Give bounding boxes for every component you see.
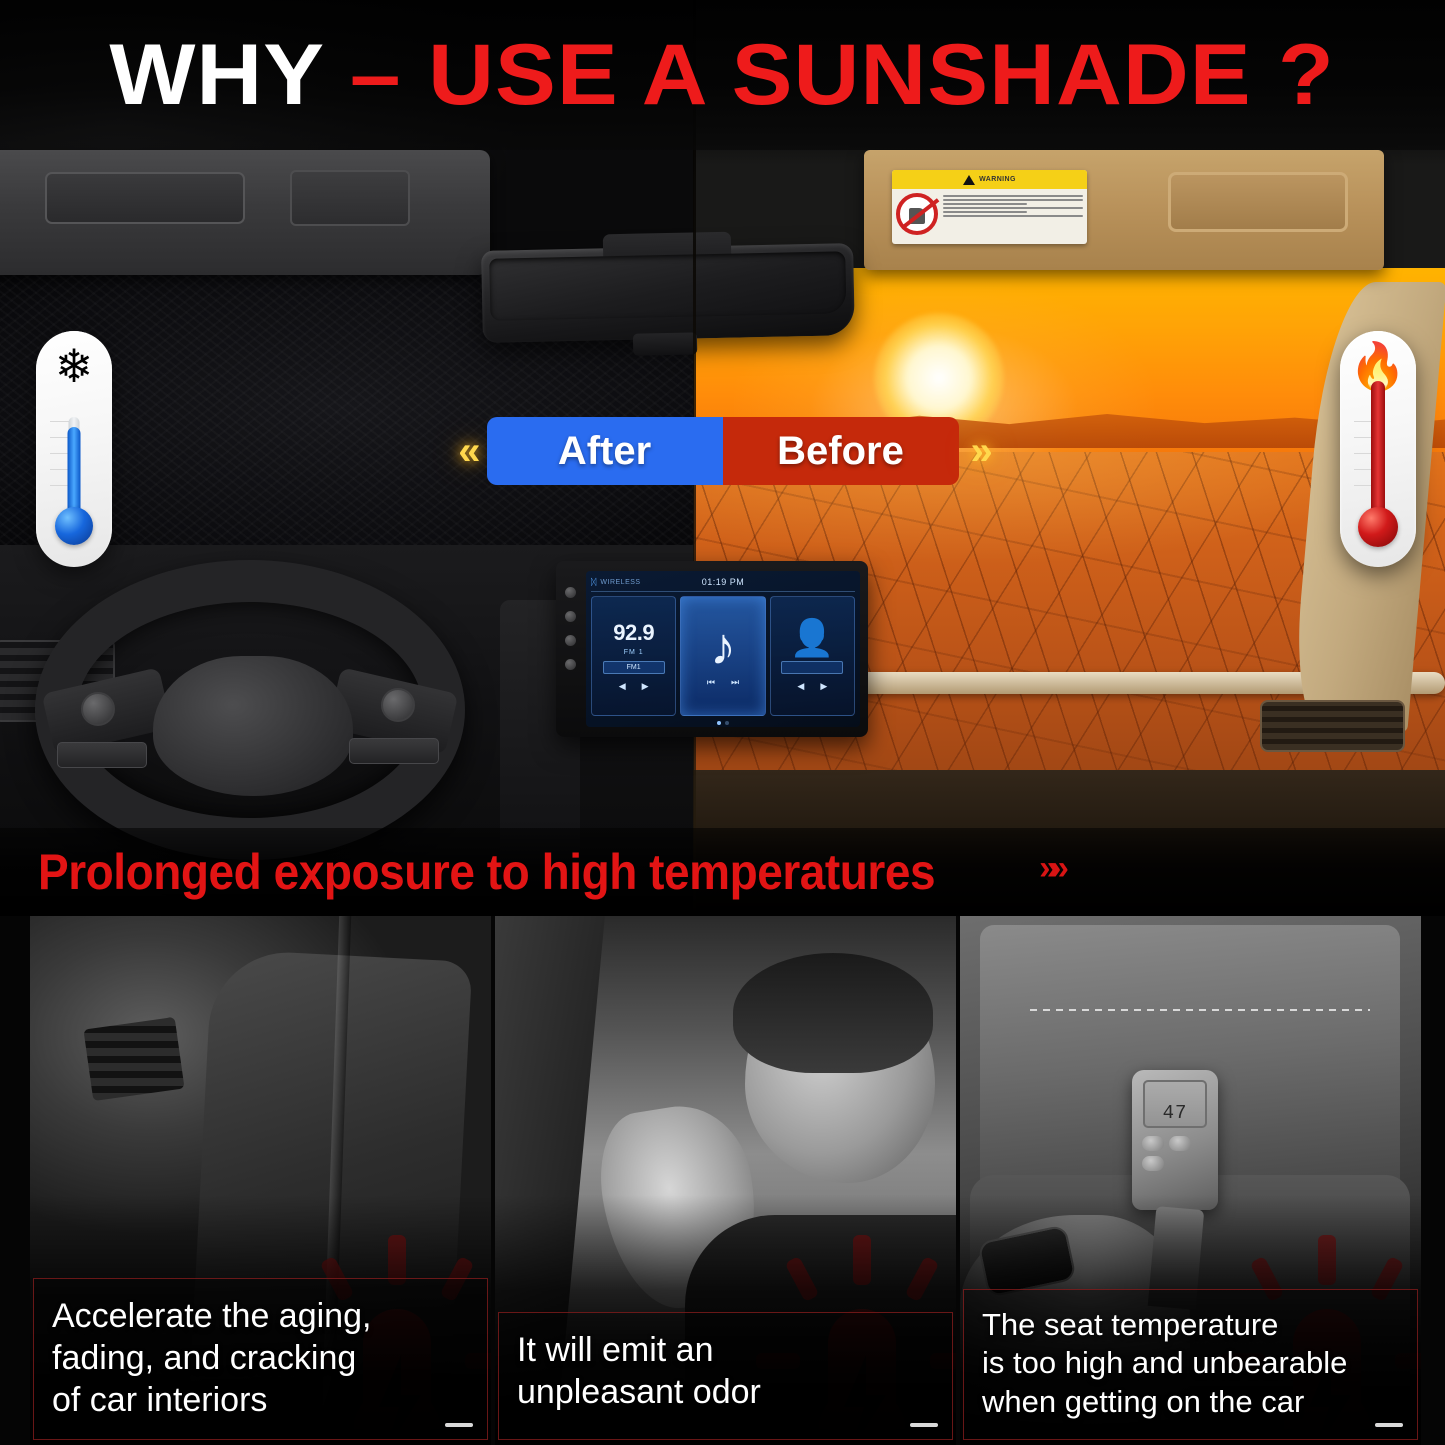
mid-headline-band: Prolonged exposure to high temperatures …	[0, 828, 1445, 916]
caption-line: is too high and unbearable	[982, 1344, 1403, 1382]
radio-controls[interactable]: ◀ ▶	[619, 681, 649, 692]
media-tile[interactable]: ♪ ⏮ ⏭	[680, 596, 765, 716]
caption-line: The seat temperature	[982, 1306, 1403, 1344]
wheel-button-right	[381, 688, 415, 722]
media-forward-icon[interactable]: ⏭	[731, 677, 739, 688]
caption-underscore	[445, 1423, 473, 1427]
panel-caption-box: It will emit an unpleasant odor	[498, 1312, 953, 1440]
snowflake-icon: ❄	[36, 343, 112, 389]
caption-line: Accelerate the aging,	[52, 1295, 473, 1337]
chevron-right-icon: »	[959, 431, 999, 471]
radio-band: FM 1	[624, 649, 644, 656]
title-banner: WHY – USE A SUNSHADE ?	[0, 0, 1445, 150]
caption-line: of car interiors	[52, 1379, 473, 1421]
warning-line	[943, 203, 1027, 205]
caption-line: It will emit an	[517, 1329, 938, 1371]
left-visor-panel	[290, 170, 410, 226]
ir-button[interactable]	[1142, 1136, 1164, 1151]
panel-seat-temperature: 47	[960, 915, 1421, 1445]
interior-vent	[83, 1017, 184, 1101]
warning-line	[943, 195, 1083, 197]
panel-aging-fading-cracking: Accelerate the aging, fading, and cracki…	[30, 915, 491, 1445]
panel-caption-box: The seat temperature is too high and unb…	[963, 1289, 1418, 1440]
caption-underscore	[1375, 1423, 1403, 1427]
cold-thermometer-bulb	[55, 507, 93, 545]
title-red-part: – USE A SUNSHADE ?	[350, 27, 1335, 123]
phone-next-icon[interactable]: ▶	[820, 681, 827, 692]
split-comparison-scene: WARNING	[0, 0, 1445, 915]
infotainment-head-unit: ᛞ WIRELESS 01:19 PM 92.9 FM 1 FM1 ◀ ▶	[556, 561, 868, 737]
consequence-panels: Accelerate the aging, fading, and cracki…	[0, 915, 1445, 1445]
ir-button[interactable]	[1142, 1156, 1164, 1171]
ir-button[interactable]	[1169, 1136, 1191, 1151]
caption-line: when getting on the car	[982, 1383, 1403, 1421]
airbag-warning-label: WARNING	[892, 170, 1087, 244]
right-visor-slot	[1168, 172, 1348, 232]
bluetooth-icon: ᛞ	[591, 577, 596, 587]
head-unit-button[interactable]	[565, 635, 576, 646]
before-badge[interactable]: Before	[723, 417, 959, 485]
ir-thermometer-buttons[interactable]	[1142, 1136, 1210, 1171]
caption-line: unpleasant odor	[517, 1371, 938, 1413]
radio-tile[interactable]: 92.9 FM 1 FM1 ◀ ▶	[591, 596, 676, 716]
warning-line	[943, 211, 1027, 213]
mirror-glass	[489, 251, 846, 320]
after-badge[interactable]: After	[487, 417, 723, 485]
mirror-housing	[633, 332, 697, 355]
radio-preset[interactable]: FM1	[603, 661, 665, 674]
left-sun-visor	[0, 150, 490, 275]
right-sun-visor: WARNING	[864, 150, 1384, 270]
music-note-icon: ♪	[710, 624, 736, 671]
caption-underscore	[910, 1423, 938, 1427]
clock-label: 01:19 PM	[702, 577, 745, 587]
page-title: WHY – USE A SUNSHADE ?	[110, 26, 1335, 125]
warning-line	[943, 207, 1083, 209]
radio-frequency: 92.9	[613, 620, 654, 646]
warning-heading-text: WARNING	[979, 176, 1016, 183]
panel-unpleasant-odor: It will emit an unpleasant odor	[495, 915, 956, 1445]
infrared-thermometer: 47	[1132, 1070, 1218, 1210]
before-after-badge-row: « After Before »	[0, 415, 1445, 487]
page-indicator-dots[interactable]	[717, 721, 729, 725]
page-dot-active[interactable]	[717, 721, 721, 725]
phone-prev-icon[interactable]: ◀	[797, 681, 804, 692]
ir-temperature-reading: 47	[1163, 1102, 1188, 1124]
left-visor-slot	[45, 172, 245, 224]
person-icon: 👤	[790, 620, 835, 656]
wheel-control-pad-left	[57, 742, 147, 768]
ir-thermometer-display: 47	[1143, 1080, 1207, 1128]
media-controls[interactable]: ⏮ ⏭	[707, 677, 739, 688]
rearview-mirror	[481, 243, 855, 343]
radio-next-icon[interactable]: ▶	[642, 681, 649, 692]
infographic-stage: WARNING	[0, 0, 1445, 1445]
warning-triangle-icon	[963, 175, 975, 185]
no-child-seat-icon	[896, 193, 938, 235]
infotainment-screen[interactable]: ᛞ WIRELESS 01:19 PM 92.9 FM 1 FM1 ◀ ▶	[586, 571, 860, 727]
status-divider	[591, 591, 855, 592]
person-hair	[733, 953, 933, 1073]
phone-tile[interactable]: 👤 ◀ ▶	[770, 596, 855, 716]
page-dot[interactable]	[725, 721, 729, 725]
title-white-part: WHY	[110, 27, 351, 123]
wheel-button-left	[81, 692, 115, 726]
chevron-right-icon: »»	[1039, 849, 1061, 888]
warning-line	[943, 199, 1083, 201]
wheel-control-pad-right	[349, 738, 439, 764]
carrier-label: WIRELESS	[600, 579, 640, 586]
child-seat-glyph	[909, 208, 925, 224]
media-rewind-icon[interactable]: ⏮	[707, 677, 715, 688]
warning-line	[943, 215, 1083, 217]
warning-text-lines	[943, 193, 1083, 235]
head-unit-button[interactable]	[565, 587, 576, 598]
seat-stitching	[1030, 1009, 1370, 1011]
screen-tiles: 92.9 FM 1 FM1 ◀ ▶ ♪ ⏮ ⏭	[591, 596, 855, 716]
warning-label-body	[892, 189, 1087, 239]
steering-wheel	[35, 560, 465, 860]
panel-caption-box: Accelerate the aging, fading, and cracki…	[33, 1278, 488, 1440]
head-unit-button[interactable]	[565, 611, 576, 622]
warning-label-header: WARNING	[892, 170, 1087, 189]
screen-status-bar: ᛞ WIRELESS 01:19 PM	[591, 575, 855, 589]
phone-contact-bar[interactable]	[781, 661, 843, 674]
chevron-left-icon: «	[446, 431, 486, 471]
right-air-vent	[1260, 700, 1405, 752]
airbag-hub	[153, 656, 353, 796]
head-unit-side-buttons[interactable]	[565, 587, 576, 670]
mid-headline-text: Prolonged exposure to high temperatures	[38, 843, 935, 901]
phone-controls[interactable]: ◀ ▶	[797, 681, 827, 692]
head-unit-button[interactable]	[565, 659, 576, 670]
radio-prev-icon[interactable]: ◀	[619, 681, 626, 692]
caption-line: fading, and cracking	[52, 1337, 473, 1379]
hot-thermometer-bulb	[1358, 507, 1398, 547]
